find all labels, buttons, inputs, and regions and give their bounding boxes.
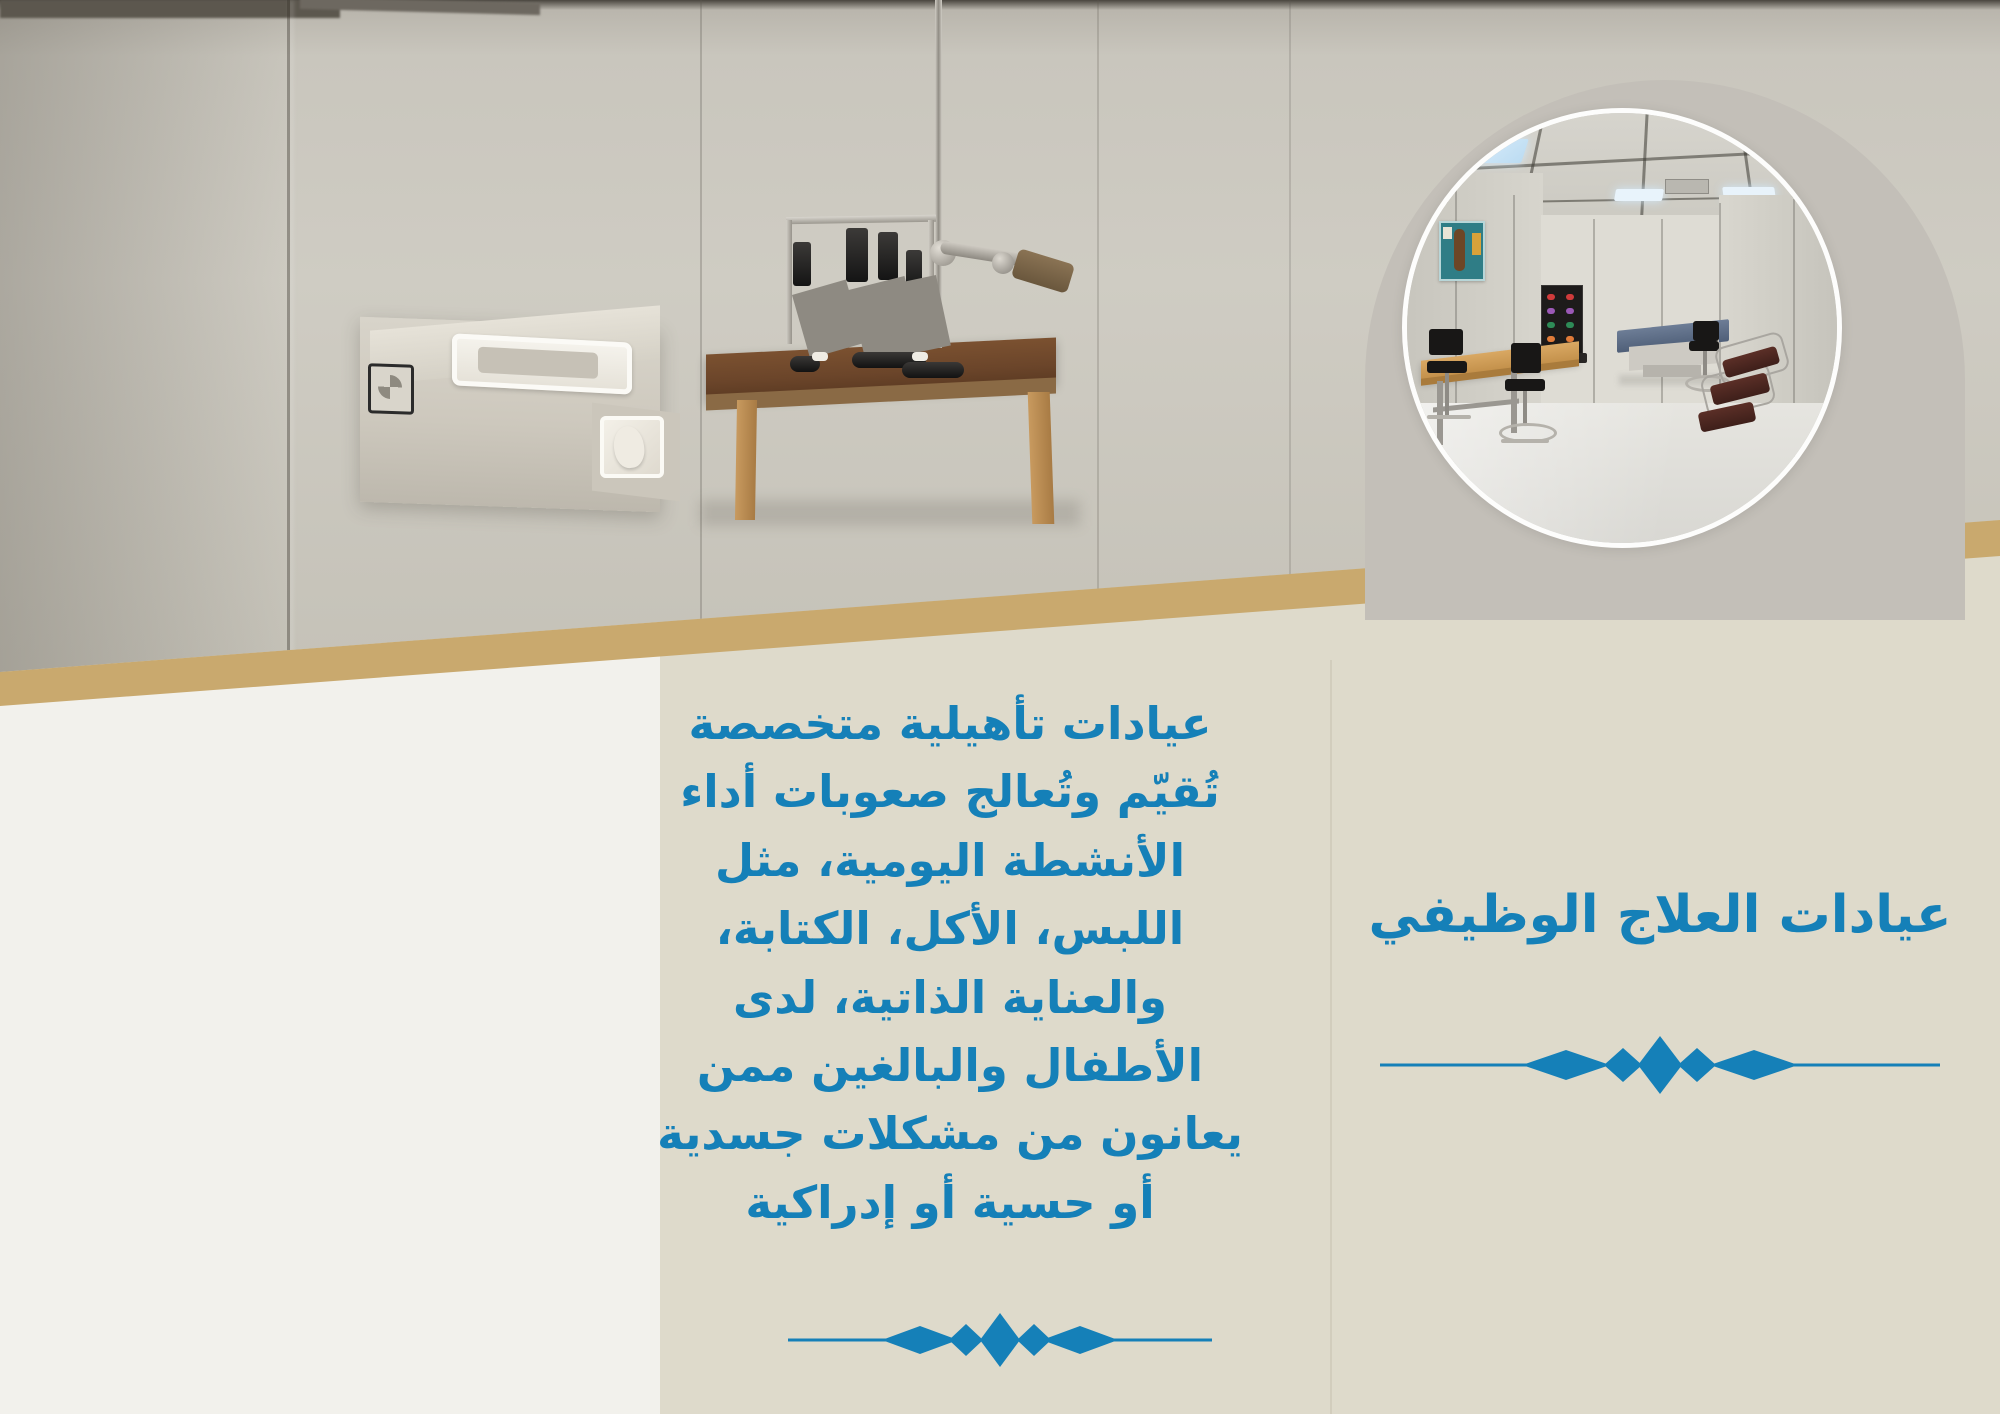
- machine-logo-icon: [368, 363, 414, 415]
- arch-frame-base: [1365, 560, 1965, 620]
- poster-canvas: عيادات العلاج الوظيفي عيادات تأهيلية متخ…: [0, 0, 2000, 1414]
- title-divider-ornament: [1370, 1030, 1950, 1100]
- section-title: عيادات العلاج الوظيفي: [1340, 880, 1980, 950]
- round-stool: [1693, 321, 1719, 341]
- panel-divider: [1330, 660, 1332, 1414]
- section-body-text: عيادات تأهيلية متخصصة تُقيّم وتُعالج صعو…: [640, 690, 1260, 1237]
- inset-circular-photo: [1402, 108, 1842, 548]
- anatomy-poster: [1439, 221, 1485, 281]
- office-chair: [1429, 329, 1463, 355]
- therapy-stool: [1511, 343, 1541, 373]
- body-divider-ornament: [780, 1305, 1220, 1375]
